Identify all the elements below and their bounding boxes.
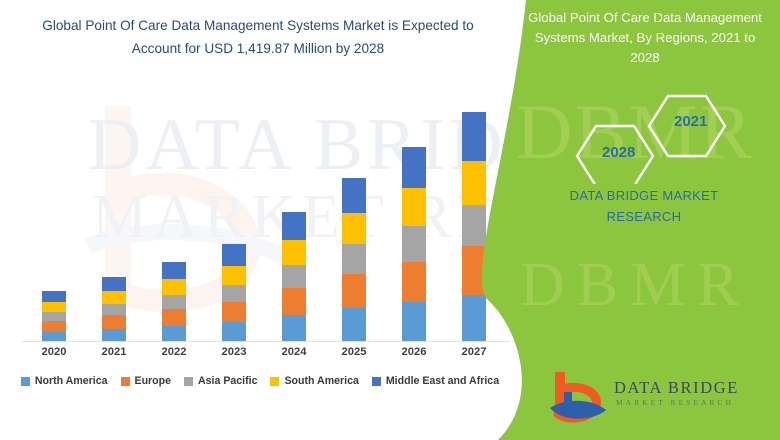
legend-label-asia-pacific: Asia Pacific — [198, 375, 257, 387]
bar-2025 — [342, 178, 366, 341]
bar-segment-south-america-2023 — [222, 266, 246, 285]
x-axis-label-2024: 2024 — [264, 346, 324, 358]
bar-segment-europe-2021 — [102, 315, 126, 329]
legend-label-south-america: South America — [284, 375, 358, 387]
bar-2026 — [402, 147, 426, 341]
bar-segment-asia-pacific-2021 — [102, 304, 126, 315]
bar-segment-north-america-2020 — [42, 332, 66, 341]
x-axis-line — [22, 341, 510, 342]
hexagon-2021-label: 2021 — [674, 113, 707, 130]
bar-segment-europe-2026 — [402, 262, 426, 302]
panel-watermark-bottom: DBMR — [520, 250, 751, 321]
bar-2024 — [282, 212, 306, 341]
panel-brand-line-2: RESEARCH — [524, 207, 764, 228]
bar-segment-south-america-2021 — [102, 291, 126, 304]
x-axis-label-2022: 2022 — [144, 346, 204, 358]
hexagon-group: 2021 2028 — [556, 92, 736, 184]
x-axis-label-2026: 2026 — [384, 346, 444, 358]
bar-segment-south-america-2025 — [342, 213, 366, 244]
bar-segment-north-america-2024 — [282, 315, 306, 341]
bar-segment-middle-east-and-africa-2026 — [402, 147, 426, 188]
hexagon-icons — [556, 92, 736, 184]
legend-label-north-america: North America — [35, 375, 108, 387]
bar-segment-asia-pacific-2024 — [282, 265, 306, 288]
x-axis-label-2020: 2020 — [24, 346, 84, 358]
chart-legend: North AmericaEuropeAsia PacificSouth Ame… — [0, 375, 520, 387]
bar-segment-north-america-2025 — [342, 308, 366, 341]
infographic-canvas: DATA BRIDGE MARKET RESEARCH Global Point… — [0, 0, 780, 440]
bar-segment-middle-east-and-africa-2023 — [222, 244, 246, 266]
bar-segment-europe-2023 — [222, 302, 246, 322]
legend-item-north-america[interactable]: North America — [21, 375, 108, 387]
bar-segment-asia-pacific-2022 — [162, 295, 186, 309]
bar-segment-europe-2022 — [162, 309, 186, 326]
bar-2021 — [102, 277, 126, 341]
bar-segment-europe-2020 — [42, 321, 66, 332]
bar-2023 — [222, 244, 246, 341]
bar-segment-south-america-2026 — [402, 188, 426, 226]
x-axis-label-2023: 2023 — [204, 346, 264, 358]
bar-segment-asia-pacific-2025 — [342, 244, 366, 274]
x-axis-label-2021: 2021 — [84, 346, 144, 358]
legend-swatch-north-america — [21, 377, 30, 386]
bar-segment-north-america-2026 — [402, 302, 426, 341]
bar-segment-north-america-2022 — [162, 326, 186, 341]
bar-segment-europe-2024 — [282, 288, 306, 315]
bar-segment-north-america-2023 — [222, 322, 246, 341]
legend-item-europe[interactable]: Europe — [121, 375, 172, 387]
databridge-logo: DATA BRIDGE MARKET RESEARCH — [548, 372, 758, 428]
legend-item-asia-pacific[interactable]: Asia Pacific — [184, 375, 257, 387]
bar-segment-middle-east-and-africa-2022 — [162, 262, 186, 279]
bar-segment-middle-east-and-africa-2021 — [102, 277, 126, 291]
bar-segment-middle-east-and-africa-2024 — [282, 212, 306, 240]
panel-title: Global Point Of Care Data Management Sys… — [526, 8, 764, 67]
bar-segment-asia-pacific-2020 — [42, 312, 66, 321]
x-axis-label-2025: 2025 — [324, 346, 384, 358]
legend-swatch-asia-pacific — [184, 377, 193, 386]
bar-segment-middle-east-and-africa-2020 — [42, 291, 66, 302]
bar-segment-south-america-2020 — [42, 302, 66, 312]
legend-swatch-south-america — [270, 377, 279, 386]
logo-name: DATA BRIDGE — [614, 378, 739, 398]
logo-tagline: MARKET RESEARCH — [616, 398, 734, 407]
legend-swatch-middle-east-and-africa — [372, 377, 381, 386]
bar-segment-europe-2025 — [342, 274, 366, 308]
chart-plot-area: 20202021202220232024202520262027 North A… — [0, 0, 520, 440]
hexagon-2028-label: 2028 — [602, 144, 635, 161]
bar-segment-south-america-2024 — [282, 240, 306, 265]
logo-mark-icon — [548, 372, 608, 424]
legend-label-europe: Europe — [135, 375, 172, 387]
legend-item-south-america[interactable]: South America — [270, 375, 358, 387]
bar-segment-asia-pacific-2023 — [222, 285, 246, 302]
bar-segment-south-america-2022 — [162, 279, 186, 295]
bar-2022 — [162, 262, 186, 341]
bar-segment-asia-pacific-2026 — [402, 226, 426, 261]
bar-segment-middle-east-and-africa-2025 — [342, 178, 366, 213]
panel-brand-line-1: DATA BRIDGE MARKET — [524, 186, 764, 207]
bar-segment-north-america-2021 — [102, 329, 126, 341]
panel-brand: DATA BRIDGE MARKET RESEARCH — [524, 186, 764, 228]
bar-2020 — [42, 291, 66, 341]
legend-swatch-europe — [121, 377, 130, 386]
